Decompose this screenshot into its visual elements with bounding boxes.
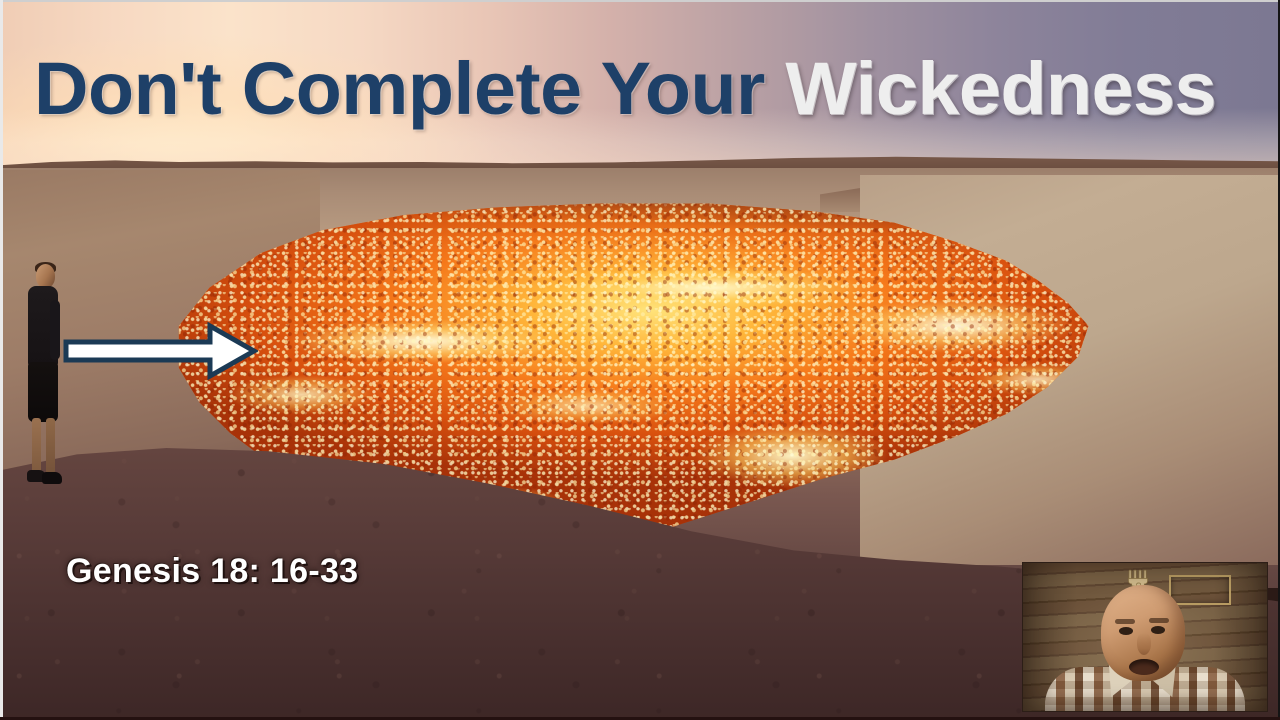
speaker-brow-right (1149, 618, 1169, 623)
arrow-shape (66, 326, 254, 376)
pointer-arrow (62, 322, 258, 380)
observer-shoe-right (42, 472, 62, 484)
speaker-mouth (1129, 659, 1159, 675)
observer-arm (50, 300, 60, 360)
observer-leg-left (32, 418, 41, 474)
verse-reference: Genesis 18: 16-33 (66, 552, 358, 591)
speaker-eye-right (1151, 626, 1165, 634)
speaker-webcam-inset[interactable] (1022, 562, 1268, 712)
frame-edge-top (0, 0, 1280, 2)
frame-edge-left (0, 0, 3, 720)
observer-shorts (28, 362, 58, 422)
observer-leg-right (46, 418, 55, 474)
speaker-brow-left (1115, 619, 1135, 624)
observer-head (36, 264, 55, 288)
video-thumbnail: Don't Complete Your Wickedness Genesis 1… (0, 0, 1280, 720)
title-part-light: Wickedness (785, 47, 1216, 130)
title-part-dark: Don't Complete Your (34, 47, 785, 130)
framed-picture (1169, 575, 1231, 605)
page-title: Don't Complete Your Wickedness (34, 52, 1273, 126)
speaker-eye-left (1119, 627, 1133, 635)
speaker-nose (1137, 633, 1151, 655)
